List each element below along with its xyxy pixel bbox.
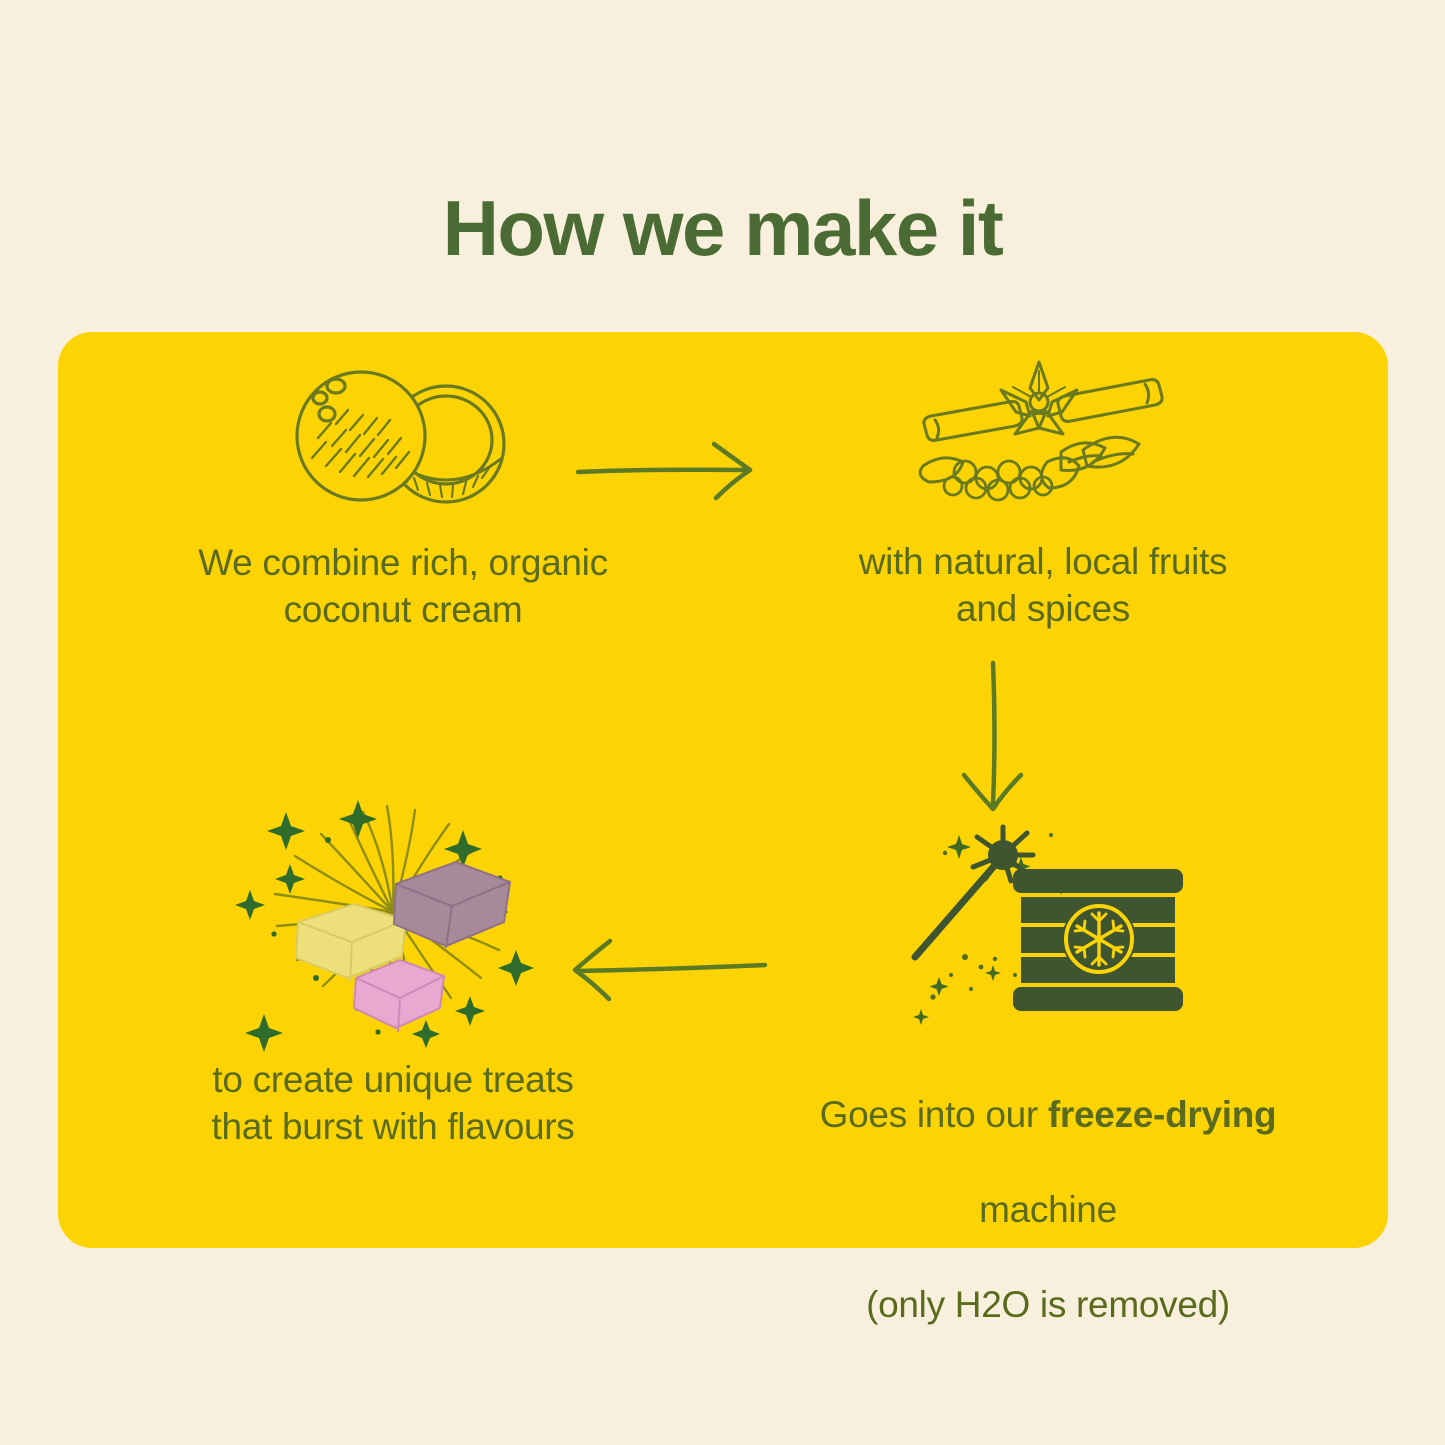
process-flow-card: We combine rich, organic coconut cream	[58, 332, 1388, 1248]
caption-machine-pre: Goes into our	[820, 1094, 1048, 1135]
caption-machine-line3: (only H2O is removed)	[866, 1284, 1230, 1325]
step-caption-coconut: We combine rich, organic coconut cream	[108, 539, 698, 634]
arrow-right-icon	[570, 430, 770, 510]
coconut-citrus-icon	[278, 362, 528, 517]
step-caption-treats: to create unique treats that burst with …	[93, 1056, 693, 1151]
caption-machine-bold: freeze-drying	[1048, 1094, 1276, 1135]
burst-treats-icon	[228, 782, 558, 1042]
page-title: How we make it	[0, 188, 1445, 270]
arrow-down-icon	[938, 657, 1048, 817]
step-caption-machine: Goes into our freeze-drying machine (onl…	[748, 1044, 1348, 1328]
fruits-spices-icon	[913, 354, 1173, 514]
freeze-drying-machine-icon	[903, 817, 1193, 1022]
caption-machine-line2: machine	[979, 1189, 1117, 1230]
process-step-machine: Goes into our freeze-drying machine (onl…	[748, 817, 1348, 1328]
process-step-treats: to create unique treats that burst with …	[93, 782, 693, 1151]
process-step-spices: with natural, local fruits and spices	[748, 354, 1338, 633]
step-caption-spices: with natural, local fruits and spices	[748, 538, 1338, 633]
